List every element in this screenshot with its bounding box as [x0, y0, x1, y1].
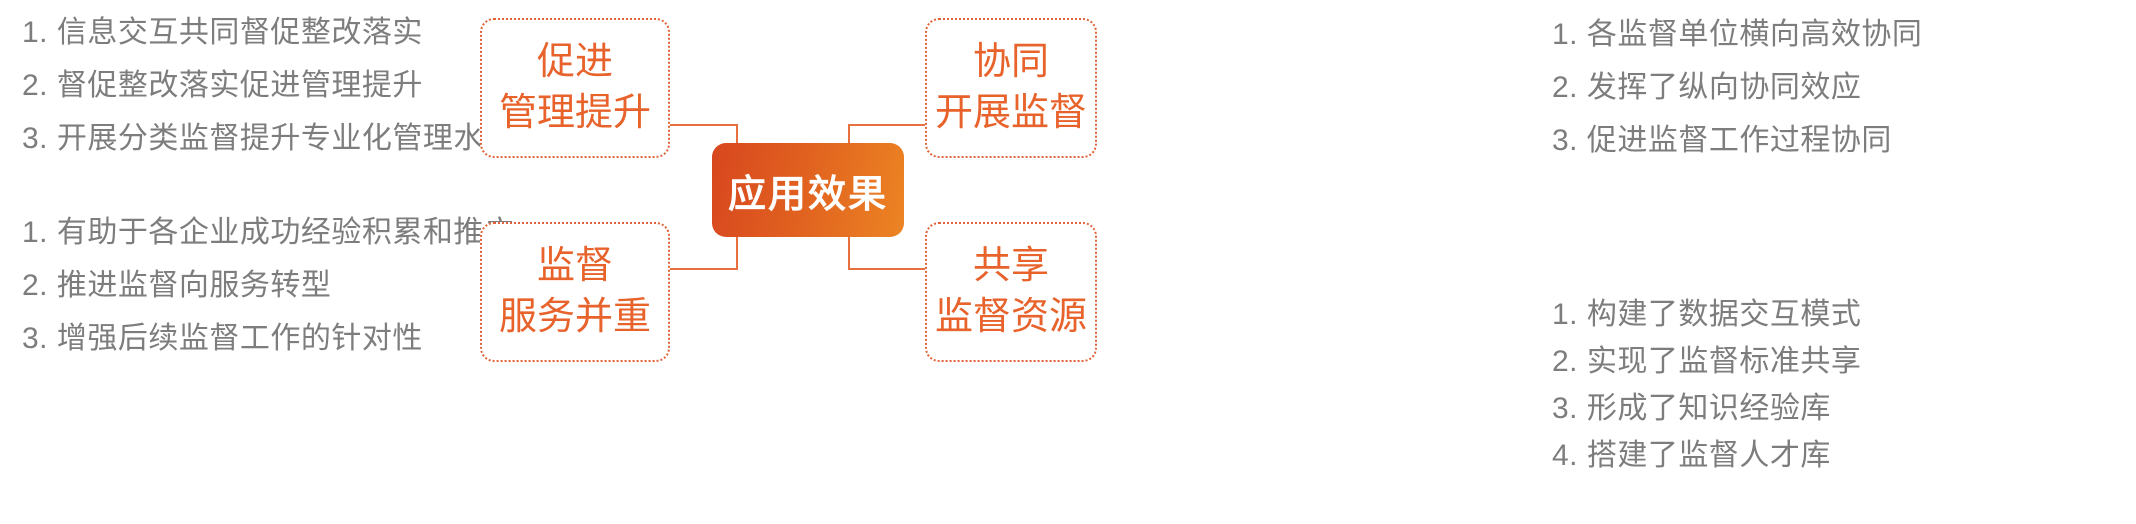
node-label-line1: 促进 [537, 37, 613, 88]
list-item: 1. 构建了数据交互模式 [1552, 300, 2122, 330]
center-node-label: 应用效果 [728, 163, 888, 218]
node-promote-management[interactable]: 促进 管理提升 [480, 18, 670, 158]
node-label-line2: 开展监督 [935, 88, 1087, 139]
connector-top-right-vertical [848, 124, 850, 145]
list-item: 1. 各监督单位横向高效协同 [1552, 20, 2122, 50]
connector-bottom-right-horizontal [848, 268, 925, 270]
connector-bottom-left-vertical [736, 236, 738, 270]
application-effects-diagram: 1. 信息交互共同督促整改落实 2. 督促整改落实促进管理提升 3. 开展分类监… [0, 0, 2136, 524]
node-label-line2: 管理提升 [499, 88, 651, 139]
center-node-application-effects[interactable]: 应用效果 [712, 143, 904, 237]
connector-top-right-horizontal [848, 124, 925, 126]
node-label-line1: 共享 [973, 241, 1049, 292]
connector-bottom-left-horizontal [670, 268, 738, 270]
node-supervision-service[interactable]: 监督 服务并重 [480, 222, 670, 362]
list-item: 3. 开展分类监督提升专业化管理水平 [22, 124, 492, 154]
connector-top-left-horizontal [670, 124, 738, 126]
list-item: 3. 增强后续监督工作的针对性 [22, 324, 502, 354]
list-item: 1. 信息交互共同督促整改落实 [22, 18, 492, 48]
connector-bottom-right-vertical [848, 236, 850, 270]
list-bottom-left: 1. 有助于各企业成功经验积累和推广 2. 推进监督向服务转型 3. 增强后续监… [22, 218, 502, 377]
list-item: 2. 推进监督向服务转型 [22, 271, 502, 301]
node-collaborative-supervision[interactable]: 协同 开展监督 [925, 18, 1097, 158]
node-label-line2: 服务并重 [499, 292, 651, 343]
list-item: 3. 形成了知识经验库 [1552, 394, 2122, 424]
list-item: 4. 搭建了监督人才库 [1552, 441, 2122, 471]
node-label-line1: 协同 [973, 37, 1049, 88]
list-item: 2. 督促整改落实促进管理提升 [22, 71, 492, 101]
list-item: 3. 促进监督工作过程协同 [1552, 126, 2122, 156]
list-item: 2. 发挥了纵向协同效应 [1552, 73, 2122, 103]
node-label-line1: 监督 [537, 241, 613, 292]
list-bottom-right: 1. 构建了数据交互模式 2. 实现了监督标准共享 3. 形成了知识经验库 4.… [1552, 300, 2122, 488]
list-top-left: 1. 信息交互共同督促整改落实 2. 督促整改落实促进管理提升 3. 开展分类监… [22, 18, 492, 177]
list-item: 2. 实现了监督标准共享 [1552, 347, 2122, 377]
connector-top-left-vertical [736, 124, 738, 145]
list-top-right: 1. 各监督单位横向高效协同 2. 发挥了纵向协同效应 3. 促进监督工作过程协… [1552, 20, 2122, 179]
node-label-line2: 监督资源 [935, 292, 1087, 343]
list-item: 1. 有助于各企业成功经验积累和推广 [22, 218, 502, 248]
node-shared-resources[interactable]: 共享 监督资源 [925, 222, 1097, 362]
